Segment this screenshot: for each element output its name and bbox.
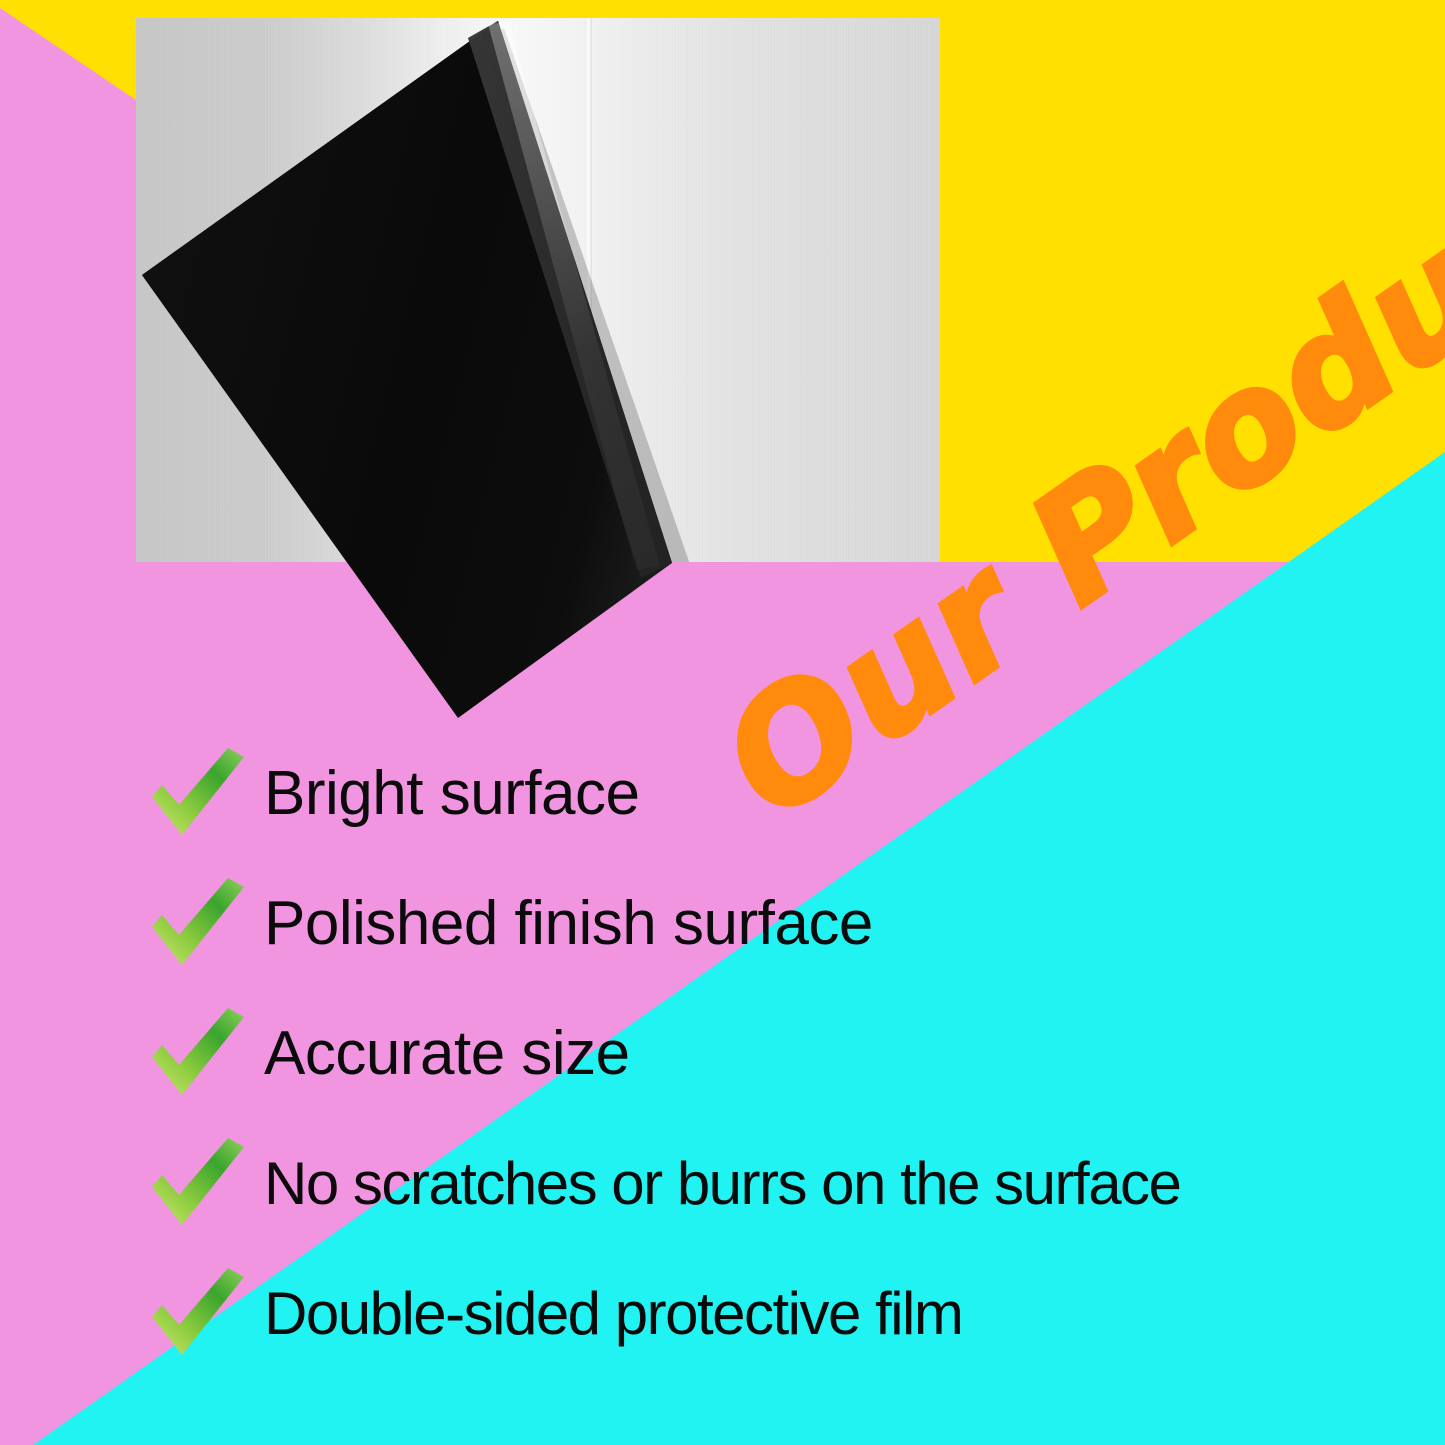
list-item: Accurate size [146, 988, 1406, 1118]
list-item: Double-sided protective film [146, 1248, 1406, 1378]
product-photo [136, 18, 940, 562]
green-check-icon [146, 1131, 250, 1235]
list-item-label: Bright surface [264, 758, 640, 829]
list-item: Polished finish surface [146, 858, 1406, 988]
list-item: Bright surface [146, 728, 1406, 858]
feature-list: Bright surface Polished finish s [146, 728, 1406, 1378]
list-item-label: No scratches or burrs on the surface [264, 1149, 1180, 1218]
list-item: No scratches or burrs on the surface [146, 1118, 1406, 1248]
green-check-icon [146, 871, 250, 975]
green-check-icon [146, 741, 250, 845]
list-item-label: Polished finish surface [264, 888, 873, 959]
list-item-label: Double-sided protective film [264, 1279, 962, 1348]
green-check-icon [146, 1261, 250, 1365]
product-infographic-poster: Our Product Bright surface [0, 0, 1445, 1445]
list-item-label: Accurate size [264, 1018, 630, 1089]
green-check-icon [146, 1001, 250, 1105]
